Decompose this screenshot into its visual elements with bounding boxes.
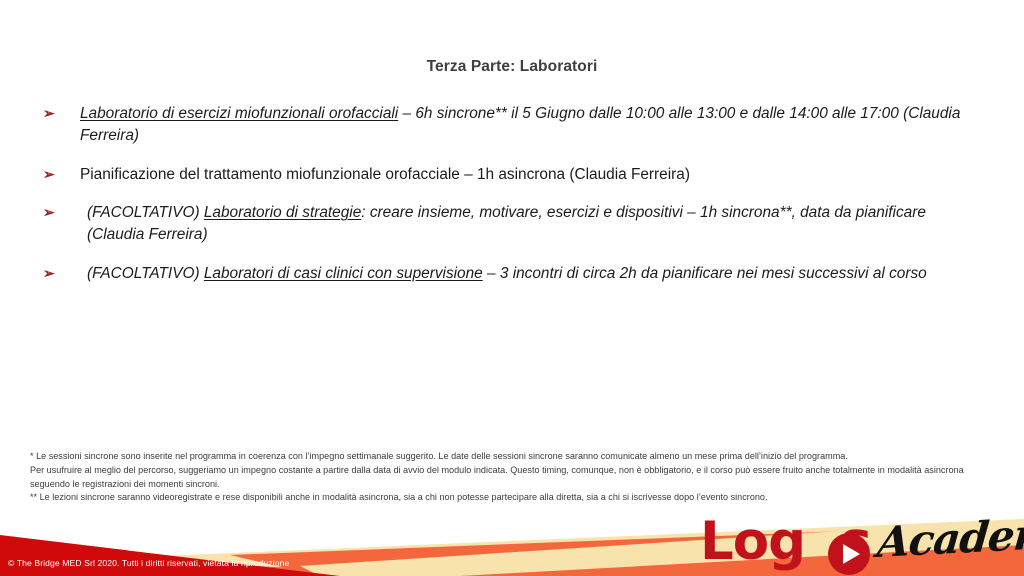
arrow-bullet-icon: ➢: [43, 103, 55, 123]
list-item: ➢ Laboratorio di esercizi miofunzionali …: [34, 103, 984, 148]
list-item-text: (FACOLTATIVO) Laboratori di casi clinici…: [87, 263, 984, 285]
logo-wordmark-academy: Academy: [875, 507, 1024, 570]
bullet-list: ➢ Laboratorio di esercizi miofunzionali …: [34, 103, 984, 301]
list-item-text: Pianificazione del trattamento miofunzio…: [80, 164, 984, 186]
list-item: ➢ Pianificazione del trattamento miofunz…: [34, 164, 984, 186]
list-item-text-prefix: (FACOLTATIVO): [87, 265, 204, 282]
logo-play-badge: [828, 533, 870, 575]
footnote-line-2: Per usufruire al meglio del percorso, su…: [30, 464, 1005, 492]
copyright-notice: © The Bridge MED Srl 2020. Tutti i dirit…: [8, 558, 289, 568]
arrow-bullet-icon: ➢: [43, 263, 55, 283]
arrow-bullet-icon: ➢: [43, 164, 55, 184]
logo-text-log: Log: [700, 511, 805, 572]
list-item-text-underlined: Laboratorio di esercizi miofunzionali or…: [80, 105, 398, 122]
page-title: Terza Parte: Laboratori: [0, 58, 1024, 76]
list-item: ➢ (FACOLTATIVO) Laboratori di casi clini…: [34, 263, 984, 285]
arrow-bullet-icon: ➢: [43, 202, 55, 222]
play-icon: [843, 544, 860, 564]
list-item: ➢ (FACOLTATIVO) Laboratorio di strategie…: [34, 202, 984, 247]
list-item-text-underlined: Laboratorio di strategie: [204, 204, 361, 221]
red-wedge-shape: [0, 535, 340, 576]
list-item-text-prefix: (FACOLTATIVO): [87, 204, 204, 221]
list-item-text-underlined: Laboratori di casi clinici con supervisi…: [204, 265, 483, 282]
slide-canvas: Terza Parte: Laboratori ➢ Laboratorio di…: [0, 0, 1024, 576]
list-item-text-rest: – 3 incontri di circa 2h da pianificare …: [483, 265, 927, 282]
logos-academy-logo: Logos Academy: [700, 515, 1022, 575]
list-item-text: Laboratorio di esercizi miofunzionali or…: [80, 103, 984, 148]
footnote-line-1: * Le sessioni sincrone sono inserite nel…: [30, 450, 1005, 464]
footnote-block: * Le sessioni sincrone sono inserite nel…: [30, 450, 1005, 505]
footnote-line-3: ** Le lezioni sincrone saranno videoregi…: [30, 491, 1005, 505]
list-item-text: (FACOLTATIVO) Laboratorio di strategie: …: [87, 202, 984, 247]
